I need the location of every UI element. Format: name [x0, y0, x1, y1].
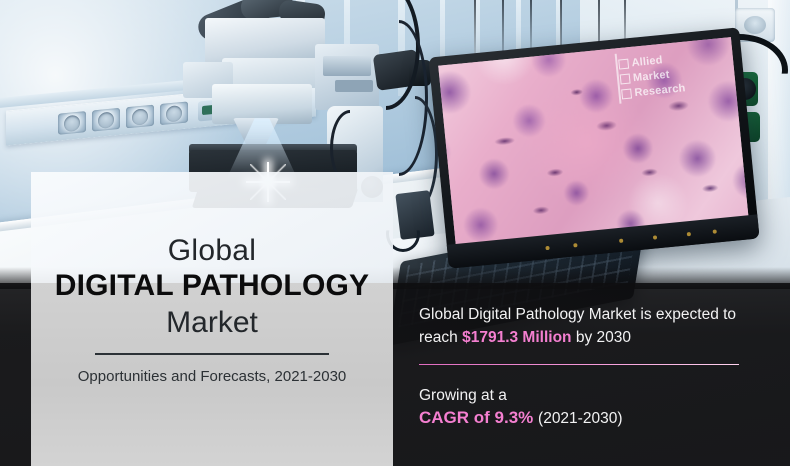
title-card-content: Global DIGITAL PATHOLOGY Market Opportun… [31, 172, 393, 466]
highlight-panel: Global Digital Pathology Market is expec… [419, 303, 764, 349]
monitor-indicator-led [653, 235, 657, 239]
title-card: Global DIGITAL PATHOLOGY Market Opportun… [31, 172, 393, 466]
blind-cord [474, 0, 476, 54]
watermark-text-market: Market [633, 69, 671, 85]
blind-cord [530, 0, 532, 50]
monitor-indicator-led [573, 243, 577, 247]
watermark-square-icon [620, 74, 631, 85]
monitor-screen [438, 37, 748, 246]
monitor-indicator-led [619, 239, 623, 243]
wall-socket [126, 105, 154, 129]
wall-socket [58, 111, 86, 135]
market-value-statement: Global Digital Pathology Market is expec… [419, 303, 764, 349]
title-line-market-name: DIGITAL PATHOLOGY [31, 269, 393, 303]
market-value: $1791.3 Million [462, 329, 571, 346]
microscope-body-right [315, 44, 379, 110]
title-subtitle: Opportunities and Forecasts, 2021-2030 [57, 366, 367, 387]
histology-cell-nuclei [438, 37, 748, 246]
monitor-indicator-led [545, 246, 549, 250]
watermark-text-allied: Allied [631, 54, 663, 69]
growth-label: Growing at a [419, 387, 507, 405]
cagr-value: CAGR of 9.3% [419, 408, 533, 427]
cagr-value-row: CAGR of 9.3% (2021-2030) [419, 408, 622, 428]
desktop-monitor [428, 27, 759, 268]
watermark-square-icon [621, 88, 632, 99]
allied-market-research-watermark: Allied Market Research [618, 51, 694, 102]
monitor-indicator-led [687, 232, 691, 236]
market-report-banner: Allied Market Research Global DIGITAL PA… [0, 0, 790, 466]
highlight-divider [419, 364, 739, 365]
microscope-port-panel [335, 80, 373, 92]
title-line-global: Global [31, 234, 393, 268]
title-divider [95, 353, 329, 355]
cagr-period: (2021-2030) [538, 410, 622, 427]
microscope-port-panel [323, 56, 371, 76]
monitor-power-led [713, 229, 717, 233]
wall-socket [92, 108, 120, 132]
title-line-market: Market [31, 306, 393, 340]
watermark-square-icon [618, 59, 629, 70]
statement-suffix: by 2030 [572, 329, 631, 346]
